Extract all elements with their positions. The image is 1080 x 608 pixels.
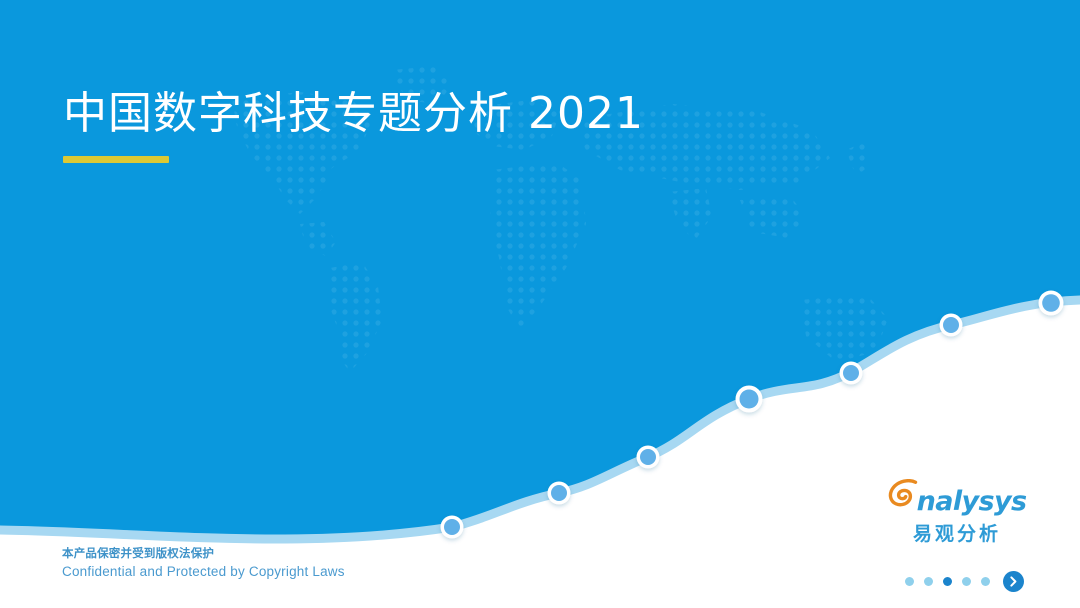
data-point-6: [943, 317, 959, 333]
data-point-5: [843, 365, 859, 381]
data-point-3: [640, 449, 656, 465]
pagination-dot-2[interactable]: [924, 577, 933, 586]
pagination-dot-4[interactable]: [962, 577, 971, 586]
page-title: 中国数字科技专题分析 2021: [63, 88, 644, 140]
title-block: 中国数字科技专题分析 2021: [63, 88, 644, 163]
copyright-notice: 本产品保密并受到版权法保护 Confidential and Protected…: [62, 545, 345, 583]
data-point-7: [1042, 294, 1060, 312]
chevron-right-icon: [1008, 576, 1019, 587]
next-slide-button[interactable]: [1003, 571, 1024, 592]
analysys-wordmark: nalysys: [917, 488, 1027, 515]
data-point-4: [740, 390, 759, 409]
slide-pagination[interactable]: [905, 571, 1024, 592]
data-point-2: [551, 485, 567, 501]
pagination-dot-5[interactable]: [981, 577, 990, 586]
presentation-slide: 中国数字科技专题分析 2021 本产品保密并受到版权法保护 Confidenti…: [0, 0, 1080, 608]
analysys-logo: nalysys 易观分析: [892, 482, 1022, 546]
pagination-dot-3[interactable]: [943, 577, 952, 586]
data-point-1: [444, 519, 460, 535]
analysys-wordmark-cn: 易观分析: [892, 519, 1022, 546]
pagination-dot-1[interactable]: [905, 577, 914, 586]
title-accent-rule: [63, 156, 169, 163]
copyright-notice-en: Confidential and Protected by Copyright …: [62, 562, 345, 582]
copyright-notice-cn: 本产品保密并受到版权法保护: [62, 545, 345, 562]
